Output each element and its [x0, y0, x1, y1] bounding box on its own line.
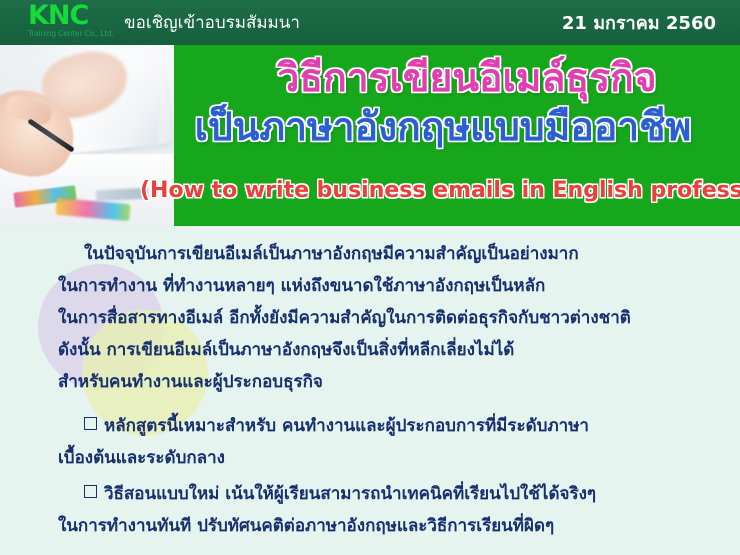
paragraph-line-2: ในการทำงาน ที่ทำงานหลายๆ แห่งถึงขนาดใช้ภ…: [58, 276, 545, 296]
knc-logo: KNC Training Center Co., Ltd.: [28, 2, 124, 44]
paragraph-line-5: สำหรับคนทำงานและผู้ประกอบธุรกิจ: [58, 372, 323, 392]
square-bullet-icon: [84, 417, 97, 430]
bullet-1-line-2: เบื้องต้นและระดับกลาง: [58, 448, 225, 468]
title-banner: วิธีการเขียนอีเมล์ธุรกิจ เป็นภาษาอังกฤษแ…: [0, 45, 740, 226]
title-text-group: วิธีการเขียนอีเมล์ธุรกิจ เป็นภาษาอังกฤษแ…: [174, 45, 740, 226]
bullet-2-line-1: วิธีสอนแบบใหม่ เน้นให้ผู้เรียนสามารถนำเท…: [84, 484, 596, 504]
bullet-1-line-1: หลักสูตรนี้เหมาะสำหรับ คนทำงานและผู้ประก…: [84, 416, 589, 436]
paragraph-line-1: ในปัจจุบันการเขียนอีเมล์เป็นภาษาอังกฤษมี…: [84, 244, 579, 264]
logo-subtitle: Training Center Co., Ltd.: [28, 29, 124, 38]
bullet-1-text-1: หลักสูตรนี้เหมาะสำหรับ คนทำงานและผู้ประก…: [104, 416, 589, 436]
header-invite-text: ขอเชิญเข้าอบรมสัมมนา: [124, 9, 300, 36]
slide-root: KNC Training Center Co., Ltd. ขอเชิญเข้า…: [0, 0, 740, 555]
header-date: 21 มกราคม 2560: [562, 8, 716, 37]
title-subtitle-english: (How to write business emails in English…: [140, 178, 740, 203]
title-line-1: วิธีการเขียนอีเมล์ธุรกิจ: [184, 56, 740, 102]
body-content: ในปัจจุบันการเขียนอีเมล์เป็นภาษาอังกฤษมี…: [0, 226, 740, 555]
paragraph-line-4: ดังนั้น การเขียนอีเมล์เป็นภาษาอังกฤษจึงเ…: [58, 340, 514, 360]
paragraph-line-3: ในการสื่อสารทางอีเมล์ อีกทั้งยังมีความสำ…: [58, 308, 631, 328]
square-bullet-icon: [84, 485, 97, 498]
bullet-2-line-2: ในการทำงานทันที ปรับทัศนคติต่อภาษาอังกฤษ…: [58, 516, 554, 536]
bullet-2-text-1: วิธีสอนแบบใหม่ เน้นให้ผู้เรียนสามารถนำเท…: [104, 484, 596, 504]
title-line-2: เป็นภาษาอังกฤษแบบมืออาชีพ: [160, 105, 726, 151]
logo-wordmark: KNC: [28, 2, 124, 30]
